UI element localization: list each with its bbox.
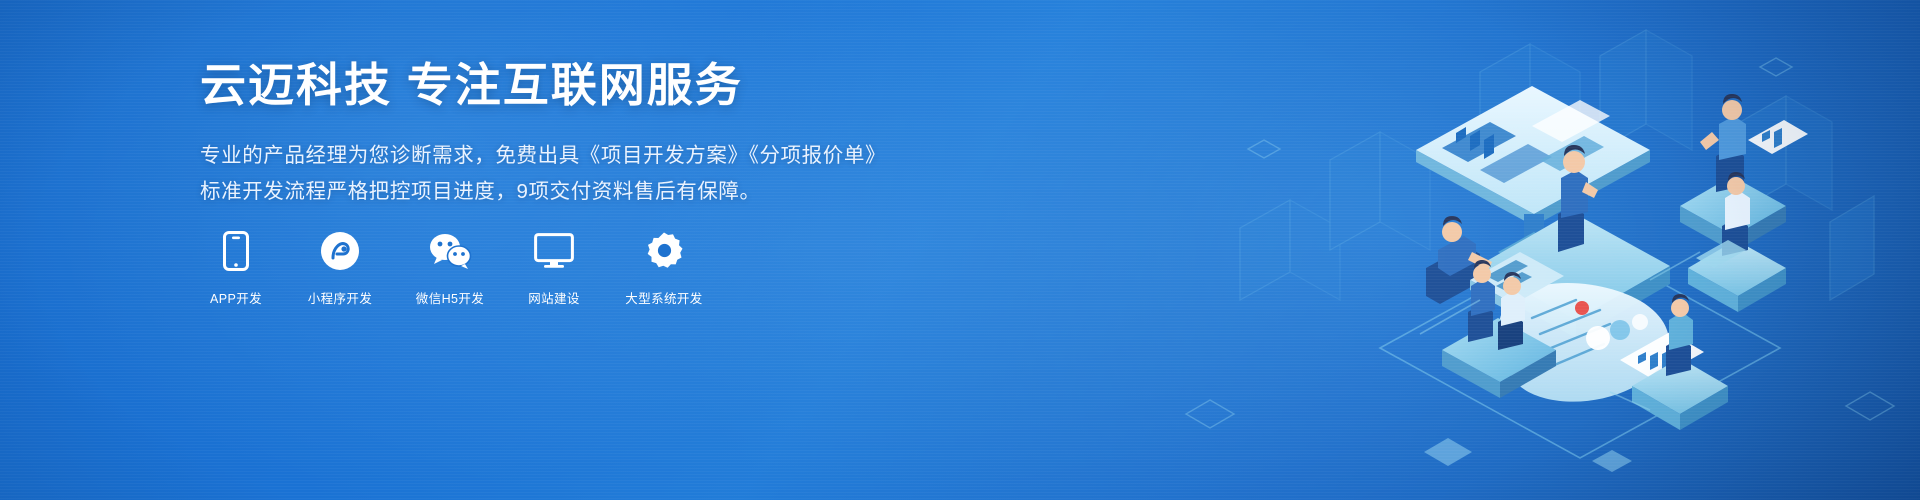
service-item-app[interactable]: APP开发 [200,228,272,308]
hero-copy: 云迈科技 专注互联网服务 专业的产品经理为您诊断需求，免费出具《项目开发方案》《… [200,58,960,209]
gear-icon [616,228,712,274]
service-label-mini-program: 小程序开发 [308,292,373,306]
service-label-website: 网站建设 [528,292,580,306]
mobile-phone-icon [200,228,272,274]
page-title: 云迈科技 专注互联网服务 [200,58,960,112]
service-item-large-system[interactable]: 大型系统开发 [616,228,712,308]
hero-banner: 云迈科技 专注互联网服务 专业的产品经理为您诊断需求，免费出具《项目开发方案》《… [0,0,1920,500]
service-item-wechat-h5[interactable]: 微信H5开发 [408,228,492,308]
service-list: APP开发 小程序开发 [200,228,712,308]
subtitle-line-1: 专业的产品经理为您诊断需求，免费出具《项目开发方案》《分项报价单》 [200,138,960,173]
subtitle-line-2: 标准开发流程严格把控项目进度，9项交付资料售后有保障。 [200,174,960,209]
illustration-isometric-team-dashboard [1180,0,1920,500]
service-label-large-system: 大型系统开发 [625,292,702,306]
wechat-icon [408,228,492,274]
service-label-wechat-h5: 微信H5开发 [416,292,484,306]
monitor-icon [518,228,590,274]
service-item-website[interactable]: 网站建设 [518,228,590,308]
service-item-mini-program[interactable]: 小程序开发 [298,228,382,308]
hero-subtitle: 专业的产品经理为您诊断需求，免费出具《项目开发方案》《分项报价单》 标准开发流程… [200,138,960,209]
service-label-app: APP开发 [210,292,262,306]
mini-program-icon [298,228,382,274]
